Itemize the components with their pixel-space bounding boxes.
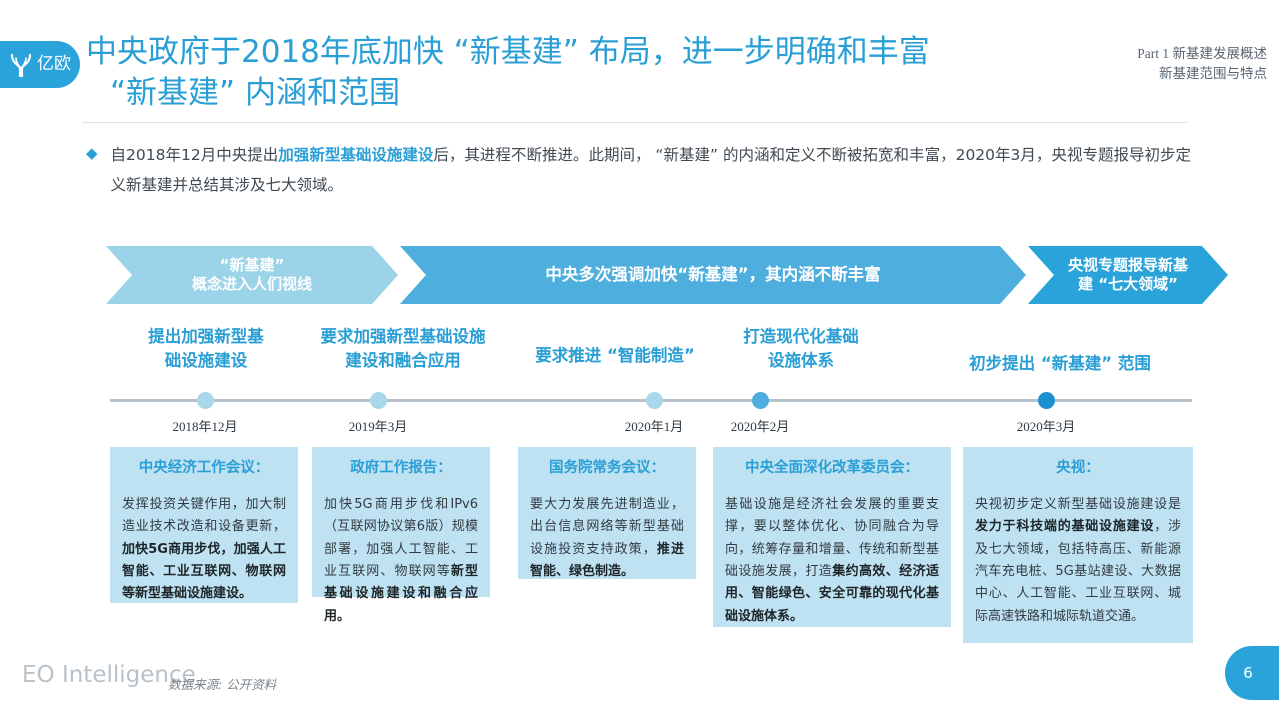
milestone-title-3-line1: 要求推进 “智能制造” [515, 344, 715, 368]
timeline-dot-4[interactable] [752, 392, 769, 409]
timeline-date-4: 2020年2月 [710, 416, 810, 435]
phase-2-line1: 中央多次强调加快“新基建”，其内涵不断丰富 [545, 265, 880, 286]
phase-1-line2: 概念进入人们视线 [192, 275, 312, 294]
milestone-title-2-line2: 建设和融合应用 [305, 349, 501, 373]
milestone-card-1-body: 发挥投资关键作用，加大制造业技术改造和设备更新，加快5G商用步伐，加强人工智能、… [122, 494, 286, 606]
milestone-card-1-heading: 中央经济工作会议： [122, 459, 286, 478]
milestone-title-3: 要求推进 “智能制造” [515, 344, 715, 368]
section-label-line1: Part 1 新基建发展概述 [1137, 44, 1267, 64]
milestone-card-2-heading: 政府工作报告： [324, 459, 478, 478]
milestone-card-5-heading: 央视： [975, 459, 1181, 478]
section-label-line2: 新基建范围与特点 [1137, 64, 1267, 84]
phase-chevron-1: “新基建” 概念进入人们视线 [106, 246, 398, 304]
timeline-dot-1[interactable] [197, 392, 214, 409]
summary-bullet: ◆ 自2018年12月中央提出加强新型基础设施建设后，其进程不断推进。此期间， … [86, 140, 1191, 200]
milestone-card-4-body: 基础设施是经济社会发展的重要支撑，要以整体优化、协同融合为导向，统筹存量和增量、… [725, 494, 939, 628]
milestone-title-5: 初步提出 “新基建” 范围 [930, 352, 1190, 376]
milestone-title-1: 提出加强新型基 础设施建设 [118, 325, 294, 373]
page-title-line2: “新基建” 内涵和范围 [86, 73, 986, 114]
card-1-text-normal: 发挥投资关键作用，加大制造业技术改造和设备更新， [122, 497, 286, 534]
timeline-dot-5[interactable] [1038, 392, 1055, 409]
card-5-text-normal2: ，涉及七大领域，包括特高压、新能源汽车充电桩、5G基站建设、大数据中心、人工智能… [975, 519, 1181, 623]
milestone-card-2-body: 加快5G商用步伐和IPv6（互联网协议第6版）规模部署，加强人工智能、工业互联网… [324, 494, 478, 628]
phase-3-line1: 央视专题报导新基 [1068, 256, 1188, 275]
footer-source: 数据来源: 公开资料 [168, 674, 276, 693]
phase-1-line1: “新基建” [192, 256, 312, 275]
timeline-dot-3[interactable] [646, 392, 663, 409]
milestone-card-5: 央视： 央视初步定义新型基础设施建设是发力于科技端的基础设施建设，涉及七大领域，… [963, 447, 1193, 643]
milestone-card-5-body: 央视初步定义新型基础设施建设是发力于科技端的基础设施建设，涉及七大领域，包括特高… [975, 494, 1181, 628]
phase-3-line2: 建 “七大领域” [1068, 275, 1188, 294]
milestone-card-4-heading: 中央全面深化改革委员会： [725, 459, 939, 478]
milestone-title-4-line1: 打造现代化基础 [713, 325, 889, 349]
milestone-card-4: 中央全面深化改革委员会： 基础设施是经济社会发展的重要支撑，要以整体优化、协同融… [713, 447, 951, 627]
card-5-text-normal1: 央视初步定义新型基础设施建设是 [975, 497, 1181, 512]
milestone-title-2: 要求加强新型基础设施 建设和融合应用 [305, 325, 501, 373]
timeline-date-1: 2018年12月 [155, 416, 255, 435]
yi-ou-leaf-icon [8, 51, 34, 78]
milestone-title-2-line1: 要求加强新型基础设施 [305, 325, 501, 349]
phase-chevron-3: 央视专题报导新基 建 “七大领域” [1028, 246, 1228, 304]
page-title: 中央政府于2018年底加快 “新基建” 布局，进一步明确和丰富 “新基建” 内涵… [86, 32, 986, 114]
milestone-title-1-line2: 础设施建设 [118, 349, 294, 373]
milestone-card-3-body: 要大力发展先进制造业，出台信息网络等新型基础设施投资支持政策，推进智能、绿色制造… [530, 494, 684, 583]
phase-banner: “新基建” 概念进入人们视线 中央多次强调加快“新基建”，其内涵不断丰富 央视专… [106, 246, 1191, 304]
milestone-card-3: 国务院常务会议： 要大力发展先进制造业，出台信息网络等新型基础设施投资支持政策，… [518, 447, 696, 579]
bullet-text-highlight: 加强新型基础设施建设 [278, 146, 433, 164]
milestone-title-1-line1: 提出加强新型基 [118, 325, 294, 349]
brand-logo: 亿欧 [0, 41, 80, 88]
bullet-text-before: 自2018年12月中央提出 [111, 146, 279, 164]
page-title-line1: 中央政府于2018年底加快 “新基建” 布局，进一步明确和丰富 [86, 34, 930, 70]
milestone-title-5-line1: 初步提出 “新基建” 范围 [930, 352, 1190, 376]
card-1-text-bold: 加快5G商用步伐，加强人工智能、工业互联网、物联网等新型基础设施建设。 [122, 542, 286, 602]
summary-bullet-text: 自2018年12月中央提出加强新型基础设施建设后，其进程不断推进。此期间， “新… [111, 140, 1191, 200]
timeline-dot-2[interactable] [370, 392, 387, 409]
bullet-diamond-icon: ◆ [86, 140, 98, 200]
milestone-card-1: 中央经济工作会议： 发挥投资关键作用，加大制造业技术改造和设备更新，加快5G商用… [110, 447, 298, 603]
phase-chevron-2: 中央多次强调加快“新基建”，其内涵不断丰富 [400, 246, 1026, 304]
page-number-badge: 6 [1225, 646, 1279, 700]
brand-logo-text: 亿欧 [37, 56, 71, 73]
milestone-card-3-heading: 国务院常务会议： [530, 459, 684, 478]
timeline-date-3: 2020年1月 [604, 416, 704, 435]
milestone-title-4: 打造现代化基础 设施体系 [713, 325, 889, 373]
slide-root: 亿欧 中央政府于2018年底加快 “新基建” 布局，进一步明确和丰富 “新基建”… [0, 0, 1279, 719]
milestone-card-2: 政府工作报告： 加快5G商用步伐和IPv6（互联网协议第6版）规模部署，加强人工… [312, 447, 490, 597]
milestone-title-4-line2: 设施体系 [713, 349, 889, 373]
section-label: Part 1 新基建发展概述 新基建范围与特点 [1137, 44, 1267, 85]
timeline-date-5: 2020年3月 [996, 416, 1096, 435]
card-5-text-bold: 发力于科技端的基础设施建设 [975, 519, 1154, 534]
header-divider [82, 122, 1187, 123]
timeline-date-2: 2019年3月 [328, 416, 428, 435]
